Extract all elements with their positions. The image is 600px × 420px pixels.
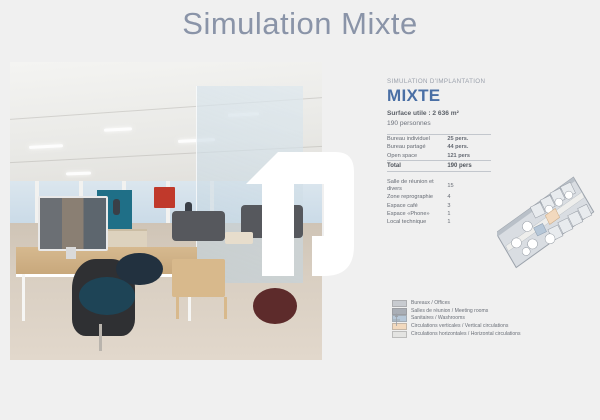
glass-partition xyxy=(196,86,303,283)
table-row: Bureau individuel 25 pers. xyxy=(387,135,491,144)
room-label: Salle de réunion et divers xyxy=(387,178,447,194)
table-row: Bureau partagé 44 pers. xyxy=(387,144,491,152)
room-label: Local technique xyxy=(387,219,447,227)
total-row-table: Total 190 pers xyxy=(387,161,491,172)
legend-item-vertical-circulations: Circulations verticales / Vertical circu… xyxy=(392,323,592,331)
pouf-burgundy xyxy=(253,288,297,324)
coffee-table xyxy=(225,232,253,244)
imac-stand xyxy=(66,247,75,259)
legend-item-horizontal-circulations: Circulations horizontales / Horizontal c… xyxy=(392,330,592,338)
total-value: 190 pers xyxy=(447,161,491,172)
legend-item-meeting-rooms: Salles de réunion / Meeting rooms xyxy=(392,308,592,316)
imac-monitor xyxy=(38,196,108,251)
legend-item-washrooms: Sanitaires / Washrooms xyxy=(392,315,592,323)
sofa xyxy=(172,211,225,241)
room-value: 4 xyxy=(447,194,491,202)
legend-swatch xyxy=(392,300,407,307)
legend-label: Sanitaires / Washrooms xyxy=(411,316,465,321)
table-row: Salle de réunion et divers 15 xyxy=(387,178,491,194)
workspace-table: Bureau individuel 25 pers. Bureau partag… xyxy=(387,134,491,161)
wooden-side-table xyxy=(172,259,225,298)
floor-plan-diagram xyxy=(497,176,597,280)
legend-item-offices: Bureaux / Offices xyxy=(392,300,592,308)
spec-eyebrow: SIMULATION D'IMPLANTATION xyxy=(387,78,491,85)
spec-title: MIXTE xyxy=(387,87,491,104)
room-value: 3 xyxy=(447,202,491,210)
workspace-label: Bureau individuel xyxy=(387,135,447,144)
room-label: Zone reprographie xyxy=(387,194,447,202)
room-value: 1 xyxy=(447,219,491,227)
page-title: Simulation Mixte xyxy=(0,6,600,42)
room-value: 1 xyxy=(447,211,491,219)
room-label: Espace «Phone» xyxy=(387,211,447,219)
legend-label: Bureaux / Offices xyxy=(411,301,450,306)
table-row: Espace café 3 xyxy=(387,202,491,210)
workspace-value: 25 pers. xyxy=(447,135,491,144)
spec-people: 190 personnes xyxy=(387,119,491,129)
workspace-label: Bureau partagé xyxy=(387,144,447,152)
legend-label: Circulations horizontales / Horizontal c… xyxy=(411,332,521,337)
workspace-label: Open space xyxy=(387,152,447,161)
workspace-value: 121 pers xyxy=(447,152,491,161)
specification-panel: SIMULATION D'IMPLANTATION MIXTE Surface … xyxy=(387,78,491,227)
spec-surface: Surface utile : 2 636 m² xyxy=(387,109,491,119)
chair-base xyxy=(99,324,102,351)
table-row: Open space 121 pers xyxy=(387,152,491,161)
table-row: Zone reprographie 4 xyxy=(387,194,491,202)
legend-label: Salles de réunion / Meeting rooms xyxy=(411,309,488,314)
desk-leg xyxy=(22,274,25,322)
room-value: 15 xyxy=(447,178,491,194)
room-label: Espace café xyxy=(387,202,447,210)
table-row: Local technique 1 xyxy=(387,219,491,227)
table-row: Total 190 pers xyxy=(387,161,491,172)
legend-swatch xyxy=(392,331,407,338)
table-row: Espace «Phone» 1 xyxy=(387,211,491,219)
rooms-table: Salle de réunion et divers 15 Zone repro… xyxy=(387,178,491,227)
office-interior-photo xyxy=(10,62,322,360)
red-bag xyxy=(154,187,176,208)
total-label: Total xyxy=(387,161,447,172)
legend-label: Circulations verticales / Vertical circu… xyxy=(411,324,508,329)
workspace-value: 44 pers. xyxy=(447,144,491,152)
north-arrow-icon xyxy=(392,313,401,327)
person xyxy=(113,199,120,215)
pouf-teal xyxy=(79,277,135,316)
legend: Bureaux / Offices Salles de réunion / Me… xyxy=(392,300,592,338)
